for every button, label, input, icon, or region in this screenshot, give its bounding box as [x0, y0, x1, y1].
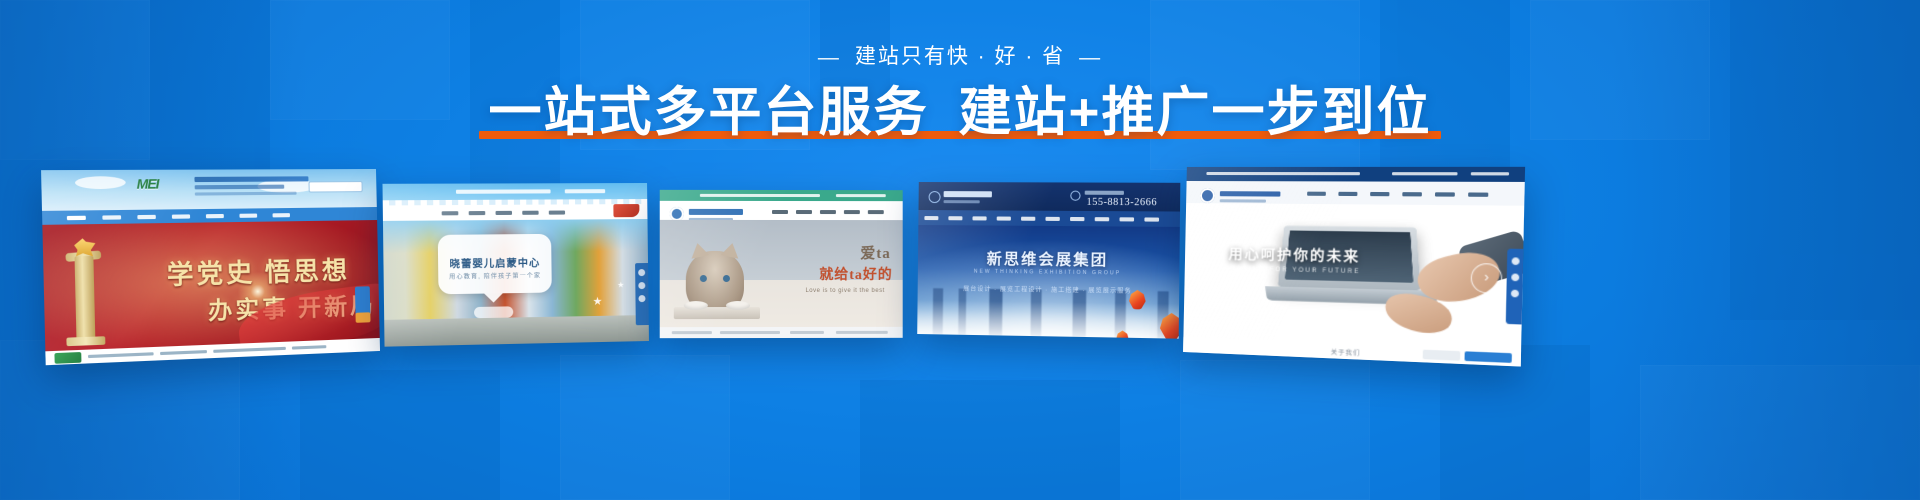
nav-item-1[interactable]	[924, 216, 938, 220]
bubble-title: 晓蕾婴儿启蒙中心	[438, 254, 552, 271]
footer-text-1	[88, 352, 154, 358]
nav-item-1[interactable]	[772, 210, 788, 214]
tagline-dash-right: —	[1079, 47, 1102, 68]
star-icon-1: ★	[592, 295, 602, 308]
site-topbar: 155-8813-2666	[919, 182, 1181, 212]
site-screenshot-kindergarten: 晓蕾婴儿启蒙中心 用心教育, 陪伴孩子第一个家 ★ ★	[382, 183, 648, 347]
headline-part-1: 一站式多平台服务	[489, 83, 929, 142]
nav-item-5[interactable]	[206, 213, 224, 217]
nav-item-3[interactable]	[972, 216, 986, 220]
headline-part-2: 建站+推广一步到位	[959, 83, 1432, 142]
nav-item-4[interactable]	[997, 217, 1011, 221]
site-logo-icon	[670, 207, 684, 221]
side-phone-icon[interactable]	[638, 269, 645, 276]
hero-headline: 一站式多平台服务建站+推广一步到位	[489, 85, 1432, 141]
star-icon-2: ★	[617, 280, 624, 289]
site-nav-menu[interactable]	[660, 201, 903, 220]
nav-item-2[interactable]	[796, 210, 812, 214]
site-hero-banner: 新思维会展集团 NEW THINKING EXHIBITION GROUP 展台…	[917, 225, 1180, 339]
hero-huabiao-pillar	[75, 256, 96, 339]
showcase-card-pet[interactable]: 爱ta 就给ta好的 Love is to give it the best	[660, 190, 903, 338]
site-nav-menu[interactable]	[1186, 181, 1525, 206]
site-screenshot-pet: 爱ta 就给ta好的 Love is to give it the best	[660, 190, 903, 338]
showcase-card-care[interactable]: 用心呵护你的未来 CARING FOR YOUR FUTURE › 关于我们	[1183, 167, 1525, 367]
site-topbar	[660, 190, 903, 201]
site-side-toolbar[interactable]	[635, 263, 649, 325]
hero-slogan-line2: 就给ta好的	[819, 264, 892, 284]
nav-item-2[interactable]	[469, 211, 486, 215]
site-logo-mei: MEI	[136, 176, 158, 192]
hero-banner: —建站只有快 · 好 · 省— 一站式多平台服务建站+推广一步到位 MEI	[0, 0, 1920, 500]
hero-title: 新思维会展集团	[918, 247, 1180, 271]
site-search-box[interactable]	[308, 181, 362, 192]
site-topbar	[382, 183, 647, 200]
site-logo-icon	[1200, 188, 1215, 203]
nav-item-2[interactable]	[1338, 192, 1357, 196]
footer-text-2	[160, 350, 207, 355]
site-org-name-line1	[194, 176, 308, 182]
site-hero-banner: 学党史 悟思想 办实事 开新局	[42, 220, 379, 351]
nav-item-9[interactable]	[1120, 217, 1135, 221]
hero-tagline: —建站只有快 · 好 · 省—	[0, 46, 1920, 68]
site-name	[689, 209, 743, 215]
footer-primary-button[interactable]	[1465, 351, 1512, 363]
nav-item-6[interactable]	[1468, 192, 1488, 196]
nav-item-home[interactable]	[67, 215, 86, 220]
site-topbar	[1187, 167, 1526, 182]
site-name	[1220, 191, 1281, 196]
footer-text-3	[213, 347, 286, 353]
site-logo	[613, 204, 639, 217]
footer-logo	[54, 351, 81, 363]
hero-badge	[474, 306, 513, 318]
site-hero-photo: 晓蕾婴儿启蒙中心 用心教育, 陪伴孩子第一个家 ★ ★	[383, 219, 649, 347]
nav-item-10[interactable]	[1144, 217, 1159, 221]
tagline-text: 建站只有快 · 好 · 省	[855, 45, 1065, 68]
nav-item-5[interactable]	[868, 210, 884, 214]
site-screenshot-care: 用心呵护你的未来 CARING FOR YOUR FUTURE › 关于我们	[1183, 167, 1525, 367]
cat-eye-right	[723, 275, 730, 282]
nav-item-4[interactable]	[844, 210, 860, 214]
site-org-name-line2	[195, 185, 285, 190]
nav-item-2[interactable]	[102, 215, 121, 219]
showcase-card-exhibition[interactable]: 155-8813-2666 新思维会展集团	[917, 182, 1180, 339]
nav-item-4[interactable]	[522, 211, 538, 215]
nav-item-6[interactable]	[1045, 217, 1059, 221]
showcase-card-kindergarten[interactable]: 晓蕾婴儿启蒙中心 用心教育, 陪伴孩子第一个家 ★ ★	[382, 183, 648, 347]
hero-text-block: —建站只有快 · 好 · 省— 一站式多平台服务建站+推广一步到位	[0, 46, 1920, 141]
cat-eye-left	[700, 275, 707, 282]
site-hero-photo: 爱ta 就给ta好的 Love is to give it the best	[660, 220, 903, 327]
side-phone-icon[interactable]	[1511, 257, 1519, 265]
hero-slogan-line1: 学党史 悟思想	[166, 251, 350, 292]
hero-title: 用心呵护你的未来	[1228, 244, 1360, 267]
hero-slogan-line1: 爱ta	[860, 242, 890, 263]
hero-speech-bubble: 晓蕾婴儿启蒙中心 用心教育, 陪伴孩子第一个家	[438, 234, 552, 294]
side-qrcode-icon[interactable]	[1511, 273, 1519, 281]
bubble-subtitle: 用心教育, 陪伴孩子第一个家	[438, 270, 551, 281]
side-top-icon[interactable]	[638, 295, 645, 302]
nav-item-4[interactable]	[172, 214, 190, 218]
nav-item-4[interactable]	[1402, 192, 1422, 196]
nav-item-7[interactable]	[1070, 217, 1084, 221]
footer-text-4	[292, 345, 326, 349]
site-screenshot-party-history: MEI 学党	[41, 169, 380, 365]
nav-item-1[interactable]	[442, 211, 459, 215]
showcase-card-party-history[interactable]: MEI 学党	[41, 169, 380, 365]
phone-icon	[1070, 191, 1080, 201]
nav-item-8[interactable]	[1095, 217, 1109, 221]
tagline-dash-left: —	[818, 47, 841, 68]
nav-item-5[interactable]	[1435, 192, 1455, 196]
phone-label	[1085, 191, 1124, 195]
nav-item-3[interactable]	[137, 214, 155, 218]
nav-item-5[interactable]	[1021, 217, 1035, 221]
nav-item-1[interactable]	[1307, 192, 1326, 196]
site-name-en	[1220, 199, 1266, 202]
nav-item-3[interactable]	[496, 211, 513, 215]
site-nav-menu[interactable]	[383, 199, 648, 221]
nav-item-6[interactable]	[239, 213, 257, 217]
footer-secondary-button[interactable]	[1423, 350, 1461, 361]
site-side-top-button[interactable]	[355, 312, 370, 323]
site-side-toolbar[interactable]	[1506, 249, 1524, 325]
nav-item-5[interactable]	[549, 211, 565, 215]
site-screenshot-exhibition: 155-8813-2666 新思维会展集团	[917, 182, 1180, 339]
hero-slogan-en: Love is to give it the best	[805, 288, 884, 294]
carousel-next-arrow-icon[interactable]: ›	[1470, 263, 1502, 294]
pet-bowl-stand	[674, 307, 760, 319]
nav-item-2[interactable]	[948, 216, 962, 220]
nav-item-3[interactable]	[1370, 192, 1389, 196]
site-hero-photo: 用心呵护你的未来 CARING FOR YOUR FUTURE ›	[1183, 203, 1524, 350]
site-phone-number: 155-8813-2666	[1086, 197, 1157, 209]
side-qrcode-icon[interactable]	[638, 282, 645, 289]
site-name-en	[944, 200, 980, 203]
nav-item-7[interactable]	[273, 213, 290, 217]
site-name	[944, 191, 992, 197]
nav-item-3[interactable]	[820, 210, 836, 214]
site-footer	[660, 327, 903, 338]
side-message-icon[interactable]	[1510, 290, 1518, 298]
photo-ground	[384, 315, 649, 347]
site-logo-icon	[929, 191, 941, 203]
website-showcase-carousel[interactable]: MEI 学党	[0, 150, 1920, 400]
